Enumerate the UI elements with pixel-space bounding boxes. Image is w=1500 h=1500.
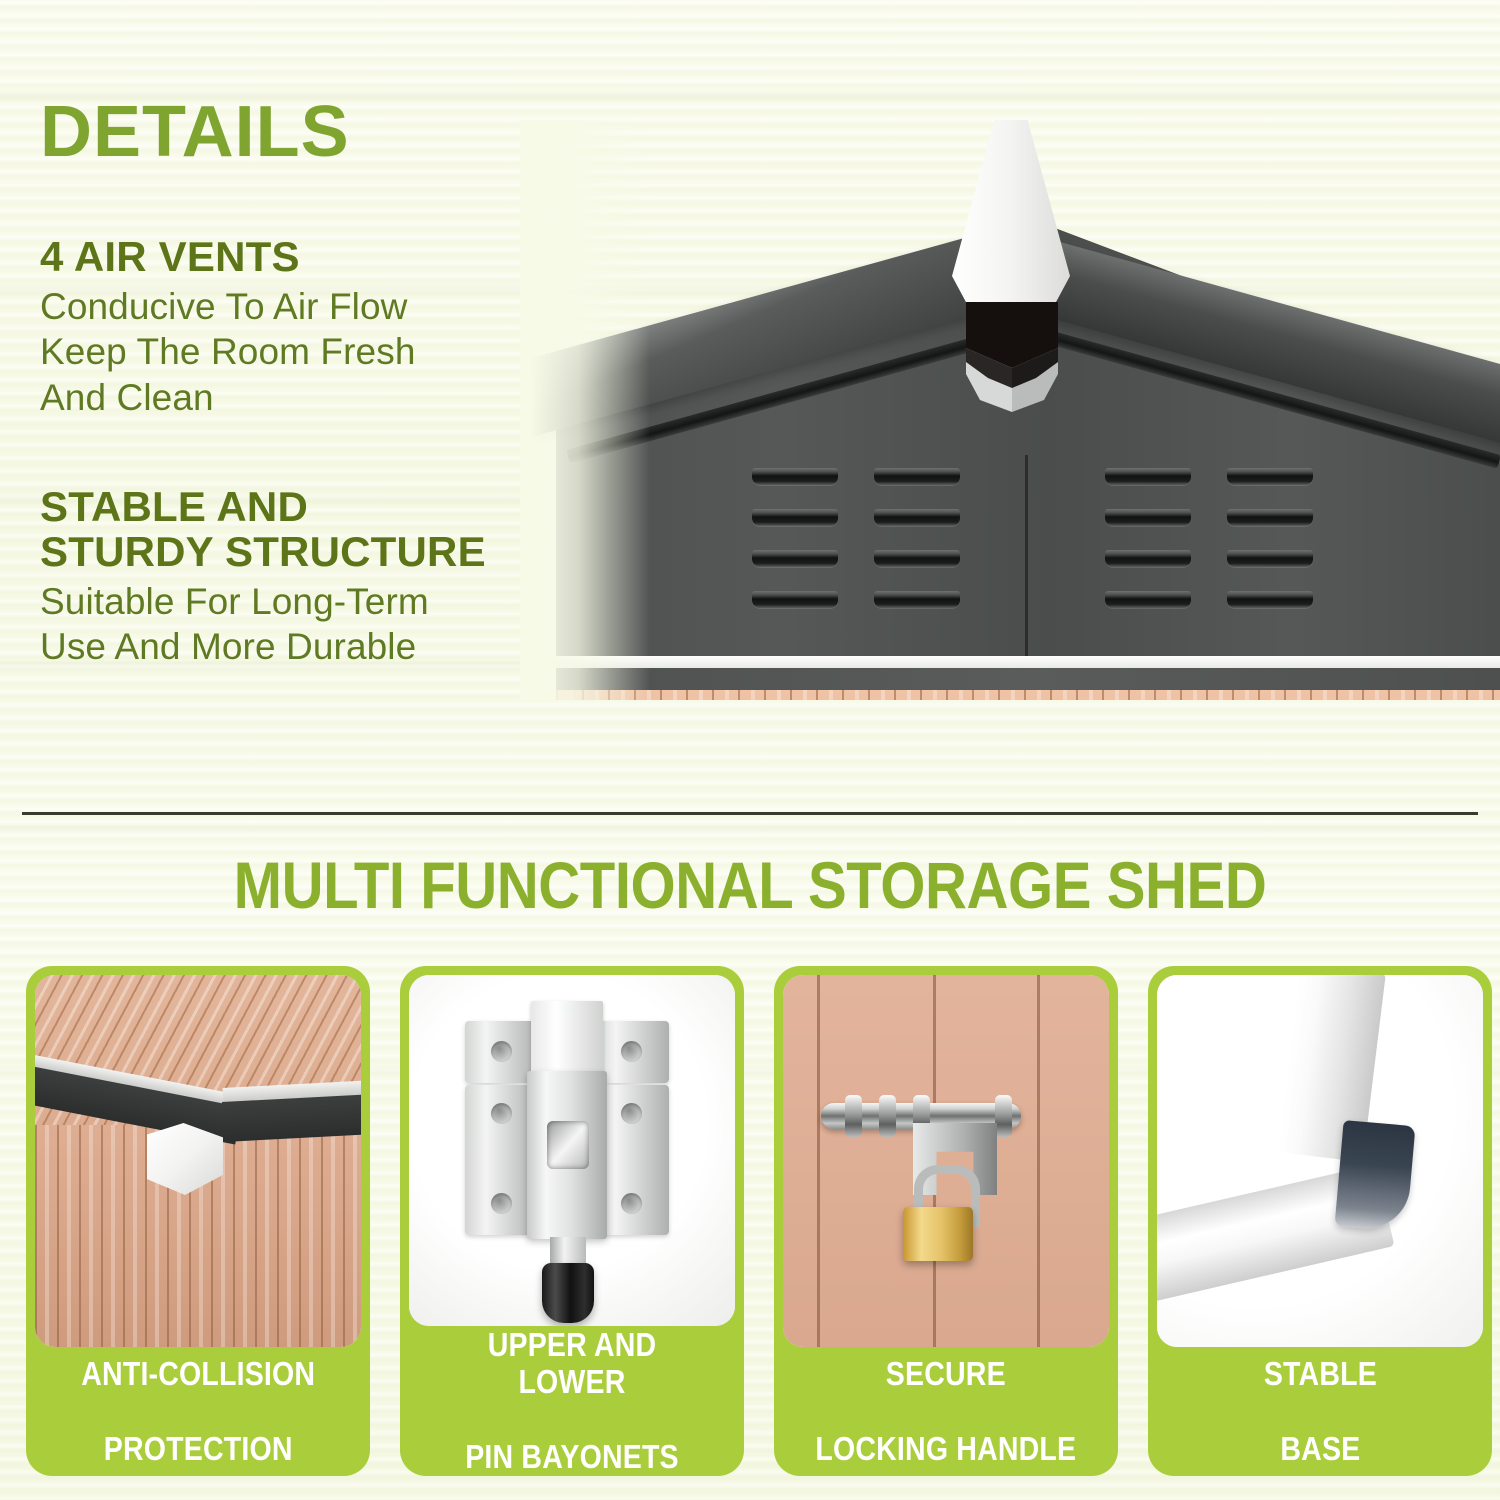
card-caption-line-1: STABLE [1263,1355,1376,1393]
latch-black-knob [542,1263,594,1323]
infographic-page: DETAILS 4 AIR VENTS Conducive To Air Flo… [0,0,1500,1500]
feature-air-vents-heading: 4 AIR VENTS [40,235,416,280]
feature-air-vents: 4 AIR VENTS Conducive To Air Flow Keep T… [40,235,416,420]
hero-shed-image [520,120,1500,700]
card-image-metal-base-frame-corner [1157,975,1483,1347]
corner-trim-svg [958,296,1066,412]
vent-slot [874,468,960,485]
feature-sturdy-structure-heading-line-2: STURDY STRUCTURE [40,530,486,575]
screw-hole [491,1041,512,1062]
card-caption-line-2: LOCKING HANDLE [816,1430,1077,1468]
air-vent-column [1227,468,1313,608]
latch-upper-bar [531,1001,603,1073]
feature-air-vents-body-line-1: Conducive To Air Flow [40,284,416,330]
feature-card-list: ANTI-COLLISION PROTECTION [26,966,1474,1476]
dark-trim-right [222,1093,361,1142]
feature-sturdy-structure-body: Suitable For Long-Term Use And More Dura… [40,579,486,670]
vent-slot [1227,591,1313,608]
page-title: DETAILS [40,96,350,168]
air-vent-group-right [1105,468,1313,608]
card-caption-line-2: PIN BAYONETS [436,1438,708,1476]
feature-sturdy-structure-heading: STABLE AND STURDY STRUCTURE [40,485,486,575]
vent-slot [1105,468,1191,485]
brass-padlock-body [903,1207,973,1261]
shed-under-band [556,668,1500,690]
air-vent-column [874,468,960,608]
card-caption-line-1: ANTI-COLLISION [81,1355,315,1393]
door-seam [1037,975,1040,1347]
air-vent-column [752,468,838,608]
screw-hole [621,1193,642,1214]
shed-corrugated-wall-panel [556,690,1500,700]
card-image-locking-handle-padlock [783,975,1109,1347]
feature-sturdy-structure: STABLE AND STURDY STRUCTURE Suitable For… [40,485,486,670]
card-caption-locking-handle: SECURE LOCKING HANDLE [783,1347,1109,1476]
shed-gable-seam [1025,455,1028,660]
card-caption-line-1: SECURE [816,1355,1077,1393]
card-caption-line-1: UPPER AND LOWER [436,1326,708,1401]
vent-slot [874,591,960,608]
screw-hole [491,1193,512,1214]
feature-sturdy-structure-body-line-2: Use And More Durable [40,624,486,670]
vent-slot [752,509,838,526]
vent-slot [1105,509,1191,526]
vent-slot [1227,509,1313,526]
feature-sturdy-structure-body-line-1: Suitable For Long-Term [40,579,486,625]
vent-slot [752,550,838,567]
bolt-collar [995,1095,1012,1137]
card-image-shed-corner-anti-collision-cap [35,975,361,1347]
screw-hole [621,1041,642,1062]
shed-door-panel [783,975,1109,1347]
details-section: DETAILS 4 AIR VENTS Conducive To Air Flo… [0,0,1500,815]
feature-air-vents-body: Conducive To Air Flow Keep The Room Fres… [40,284,416,421]
feature-card-stable-base[interactable]: STABLE BASE [1148,966,1492,1476]
feature-card-pin-bayonets[interactable]: UPPER AND LOWER PIN BAYONETS [400,966,744,1476]
vent-slot [752,591,838,608]
air-vent-column [1105,468,1191,608]
feature-air-vents-body-line-2: Keep The Room Fresh [40,329,416,375]
shed-white-trim-strip [556,656,1500,668]
vent-slot [874,550,960,567]
vent-slot [1105,591,1191,608]
feature-sturdy-structure-heading-line-1: STABLE AND [40,485,486,530]
vent-slot [1227,468,1313,485]
card-caption-stable-base: STABLE BASE [1157,1347,1483,1476]
card-image-barrel-bolt-latch [409,975,735,1326]
latch-thumb-window [547,1121,589,1169]
screw-hole [621,1103,642,1124]
feature-card-locking-handle[interactable]: SECURE LOCKING HANDLE [774,966,1118,1476]
bolt-collar [845,1095,862,1137]
card-caption-anti-collision: ANTI-COLLISION PROTECTION [35,1347,361,1476]
vent-slot [1227,550,1313,567]
vent-slot [752,468,838,485]
bottom-section-title: MULTI FUNCTIONAL STORAGE SHED [90,852,1410,918]
hero-left-fade [520,120,650,700]
vent-slot [874,509,960,526]
card-caption-line-2: BASE [1263,1430,1376,1468]
vent-slot [1105,550,1191,567]
bolt-collar [879,1095,896,1137]
card-caption-pin-bayonets: UPPER AND LOWER PIN BAYONETS [409,1326,735,1476]
card-caption-line-2: PROTECTION [81,1430,315,1468]
feature-card-anti-collision[interactable]: ANTI-COLLISION PROTECTION [26,966,370,1476]
screw-hole [491,1103,512,1124]
air-vent-group-left [752,468,960,608]
feature-air-vents-body-line-3: And Clean [40,375,416,421]
shed-ridge-cap [952,120,1070,320]
door-seam [817,975,820,1347]
section-divider [22,812,1478,815]
shed-corner-trim-piece [958,296,1066,412]
